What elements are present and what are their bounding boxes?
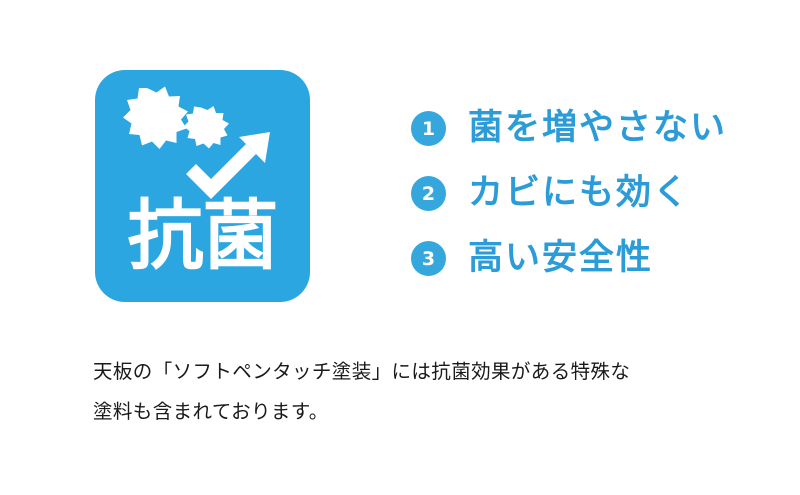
badge-label: 抗菌 xyxy=(95,198,310,274)
caption-line: 天板の「ソフトペンタッチ塗装」には抗菌効果がある特殊な xyxy=(93,352,773,392)
germ-small-icon xyxy=(184,106,230,149)
feature-label: 菌を増やさない xyxy=(468,111,727,146)
list-item: 2 カビにも効く xyxy=(411,161,771,226)
list-item: 1 菌を増やさない xyxy=(411,96,771,161)
feature-number-badge: 1 xyxy=(411,111,446,146)
feature-number-badge: 2 xyxy=(411,176,446,211)
page-root: 抗菌 1 菌を増やさない 2 カビにも効く 3 高い安全性 天板の「ソフトペンタ… xyxy=(0,0,800,495)
feature-list: 1 菌を増やさない 2 カビにも効く 3 高い安全性 xyxy=(411,96,771,291)
feature-label: カビにも効く xyxy=(468,176,690,211)
feature-label: 高い安全性 xyxy=(468,241,653,276)
caption-line: 塗料も含まれております。 xyxy=(93,392,773,432)
caption: 天板の「ソフトペンタッチ塗装」には抗菌効果がある特殊な 塗料も含まれております。 xyxy=(93,352,773,432)
feature-number-badge: 3 xyxy=(411,241,446,276)
antibacterial-badge: 抗菌 xyxy=(95,70,310,302)
list-item: 3 高い安全性 xyxy=(411,226,771,291)
germ-large-icon xyxy=(123,87,188,150)
